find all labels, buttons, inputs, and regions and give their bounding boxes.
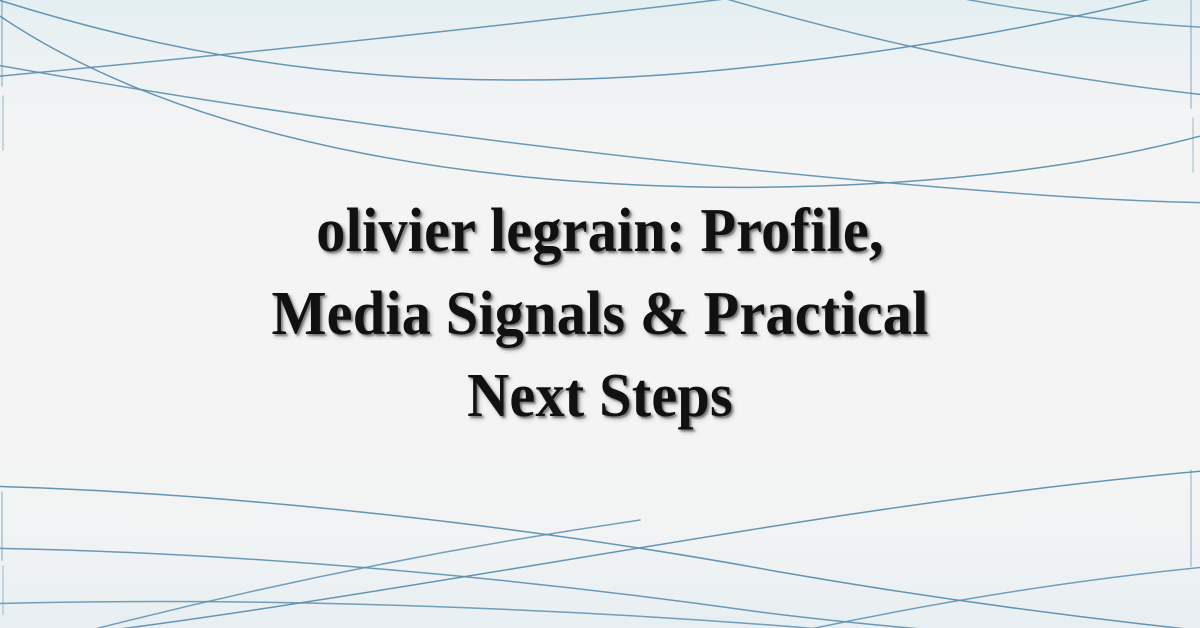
share-card: olivier legrain: Profile, Media Signals …	[0, 0, 1200, 628]
page-title: olivier legrain: Profile, Media Signals …	[139, 190, 1060, 437]
title-container: olivier legrain: Profile, Media Signals …	[0, 0, 1200, 628]
